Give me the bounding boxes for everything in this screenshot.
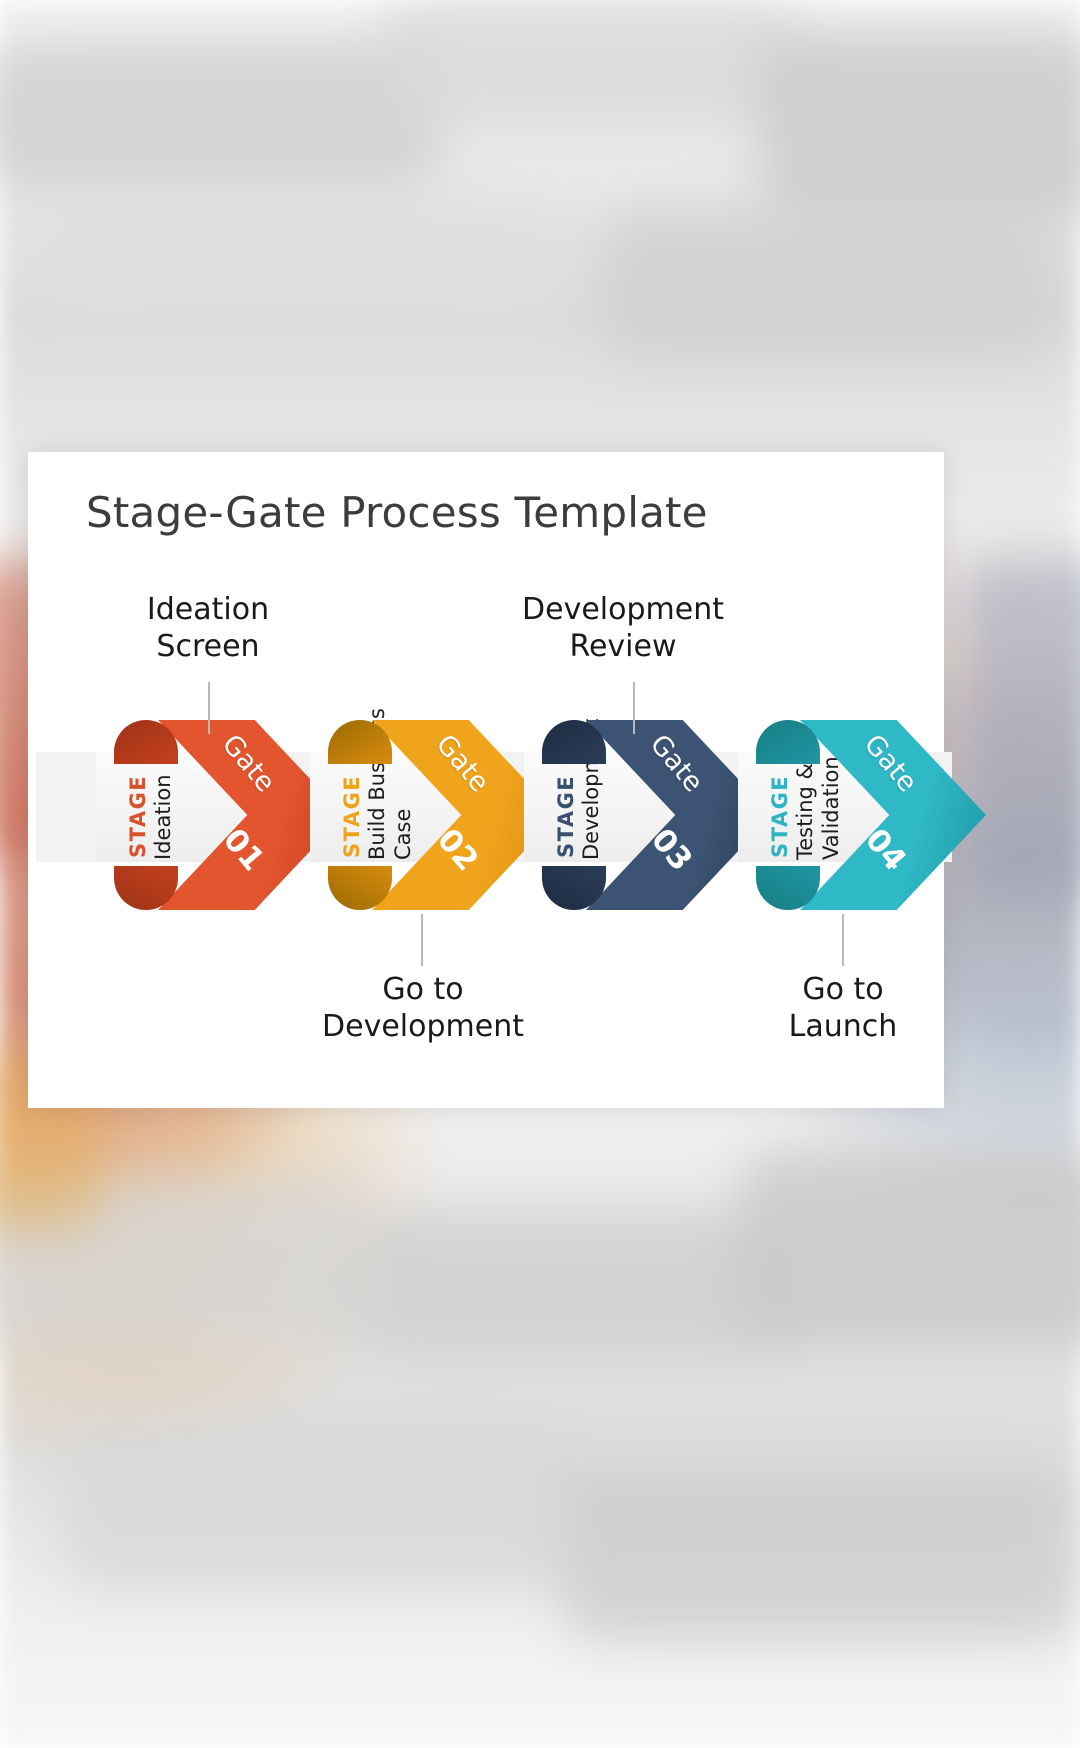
- gate-arrow[interactable]: Gate04: [800, 720, 986, 910]
- callout-line-1: Development: [522, 592, 724, 627]
- stage-unit-02[interactable]: STAGEBuild BusinessCaseGate02: [310, 720, 558, 910]
- callout-go-to-development: Go to Development: [278, 972, 568, 1045]
- callout-ideation-screen: Ideation Screen: [88, 592, 328, 665]
- callout-line-2: Launch: [718, 1009, 968, 1046]
- callout-go-to-launch: Go to Launch: [718, 972, 968, 1045]
- stage-kicker: STAGE: [340, 775, 364, 858]
- callout-line-1: Go to: [382, 972, 463, 1007]
- stage-unit-01[interactable]: STAGEIdeationGate01: [96, 720, 344, 910]
- leader-line-development-review: [633, 682, 635, 734]
- callout-development-review: Development Review: [478, 592, 768, 665]
- leader-line-go-to-launch: [842, 914, 844, 966]
- callout-line-2: Development: [278, 1009, 568, 1046]
- leader-line-ideation-screen: [208, 682, 210, 734]
- stage-kicker: STAGE: [554, 775, 578, 858]
- stage-unit-04[interactable]: STAGETesting &ValidationGate04: [738, 720, 986, 910]
- stage-unit-03[interactable]: STAGEDevelopmentGate03: [524, 720, 772, 910]
- slide-canvas: Stage-Gate Process Template STAGEIdeatio…: [28, 452, 944, 1108]
- stage-kicker: STAGE: [126, 775, 150, 858]
- stage-kicker: STAGE: [768, 775, 792, 858]
- page-title: Stage-Gate Process Template: [86, 488, 708, 537]
- callout-line-1: Ideation: [147, 592, 269, 627]
- leader-line-go-to-development: [421, 914, 423, 966]
- callout-line-1: Go to: [802, 972, 883, 1007]
- callout-line-2: Review: [478, 629, 768, 666]
- callout-line-2: Screen: [88, 629, 328, 666]
